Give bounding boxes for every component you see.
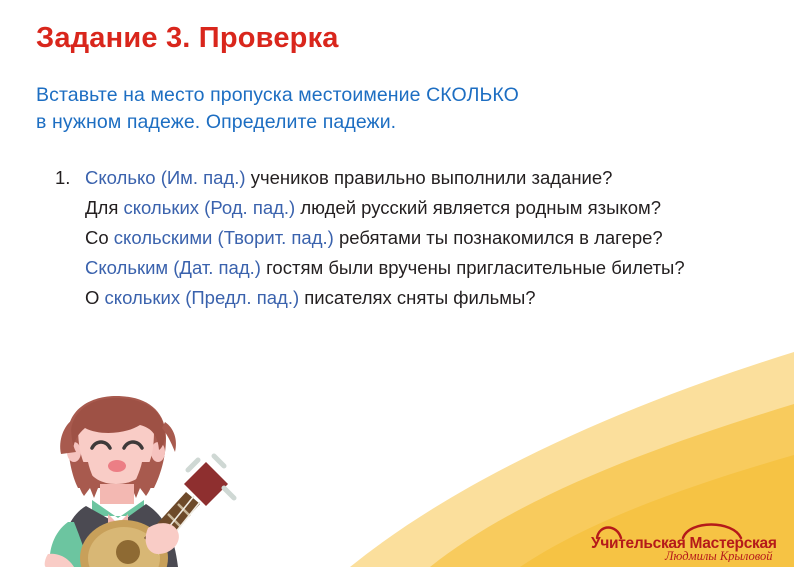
sentence-3-rest: ребятами ты познакомился в лагере?: [334, 227, 663, 248]
answers-list: 1. Сколько (Им. пад.) учеников правильно…: [55, 163, 755, 313]
page-title: Задание 3. Проверка: [36, 22, 339, 55]
sentence-5-highlight: скольких (Предл. пад.): [105, 287, 300, 308]
sentence-1-highlight: Сколько (Им. пад.): [85, 167, 246, 188]
boy-playing-guitar-illustration: [28, 392, 240, 567]
sentence-3-highlight: скольскими (Творит. пад.): [114, 227, 334, 248]
boy-figure: [45, 396, 234, 567]
sentence-2-lead: Для: [85, 197, 123, 218]
slide: Задание 3. Проверка Вставьте на место пр…: [0, 0, 794, 567]
sentence-2: Для скольких (Род. пад.) людей русский я…: [85, 193, 755, 223]
instruction-line-2: в нужном падеже. Определите падежи.: [36, 109, 736, 136]
guitar-soundhole: [116, 540, 140, 564]
sentence-4: Скольким (Дат. пад.) гостям были вручены…: [85, 253, 755, 283]
instruction-text: Вставьте на место пропуска местоимение С…: [36, 82, 736, 136]
sentence-3-lead: Со: [85, 227, 114, 248]
tuning-peg-3: [224, 488, 234, 498]
tuning-peg-2: [214, 456, 224, 466]
sentence-5-lead: О: [85, 287, 105, 308]
sentence-1: Сколько (Им. пад.) учеников правильно вы…: [85, 163, 755, 193]
sentence-5: О скольких (Предл. пад.) писателях сняты…: [85, 283, 755, 313]
mouth: [108, 460, 126, 472]
list-item-number: 1.: [55, 163, 85, 193]
tuning-peg-1: [188, 460, 198, 470]
instruction-line-1: Вставьте на место пропуска местоимение С…: [36, 82, 736, 109]
sentence-2-rest: людей русский является родным языком?: [295, 197, 661, 218]
sentence-4-rest: гостям были вручены пригласительные биле…: [261, 257, 685, 278]
neck: [100, 484, 134, 504]
sentence-4-highlight: Скольким (Дат. пад.): [85, 257, 261, 278]
list-item-body: Сколько (Им. пад.) учеников правильно вы…: [85, 163, 755, 313]
logo-line-2: Людмилы Крыловой: [664, 549, 773, 562]
sentence-1-rest: учеников правильно выполнили задание?: [246, 167, 613, 188]
list-item: 1. Сколько (Им. пад.) учеников правильно…: [55, 163, 755, 313]
brand-logo: Учительская Мастерская Людмилы Крыловой: [583, 518, 779, 562]
sentence-2-highlight: скольких (Род. пад.): [123, 197, 295, 218]
sentence-3: Со скольскими (Творит. пад.) ребятами ты…: [85, 223, 755, 253]
sentence-5-rest: писателях сняты фильмы?: [299, 287, 535, 308]
